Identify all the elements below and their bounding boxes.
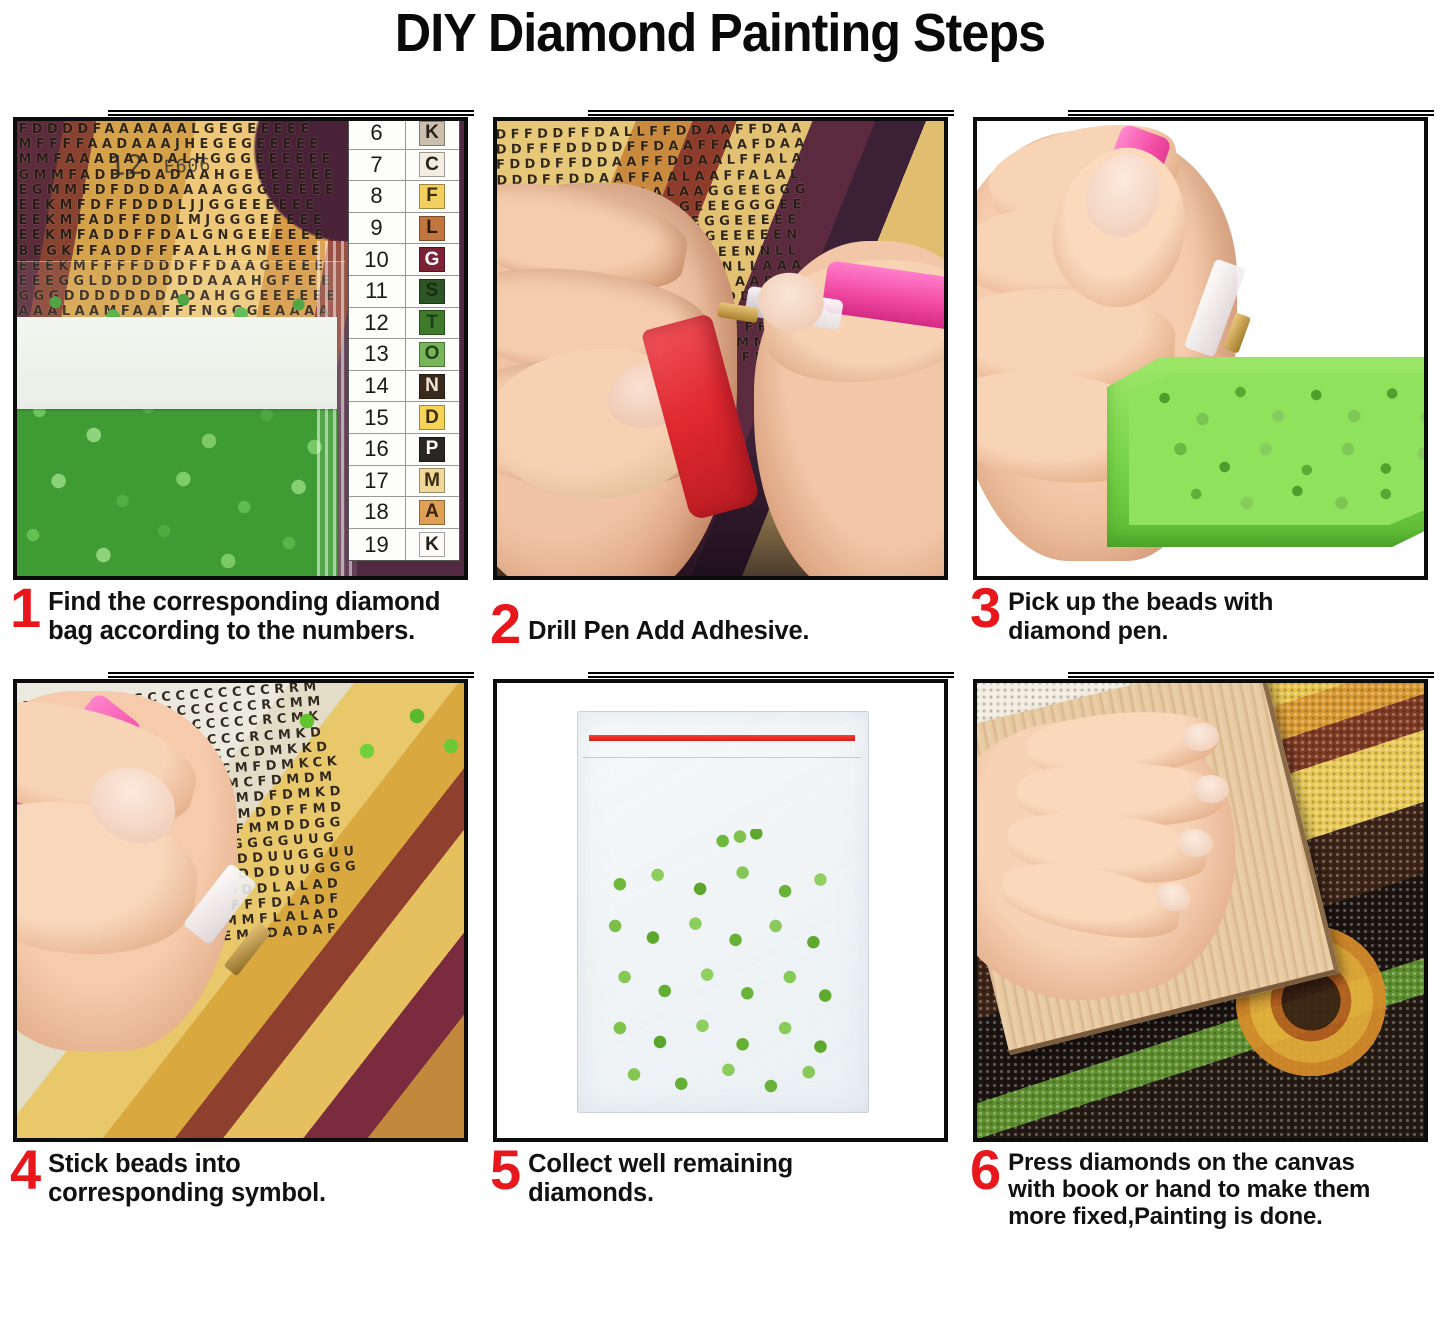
legend-row: 12T: [349, 308, 459, 340]
step-photo-4: CCCCCCCCCCCCCCCCCCCRRM CCCCCCCCCCCCCCCCC…: [13, 679, 468, 1142]
legend-color-swatch: K: [419, 532, 445, 557]
step-photo-2: DFFDDFFDALLFFDDAAFFDAA DDFFFDDDDFFDAAFFA…: [493, 117, 948, 580]
legend-row-number: 7: [349, 152, 405, 178]
legend-color-swatch: M: [419, 468, 445, 493]
legend-row: 13O: [349, 339, 459, 371]
step-number-1: 1: [10, 582, 41, 634]
step-photo-wrap-1: FDDDDFAAAAAALGEGEEEEE MFFFFAADAAAJHEGEGE…: [13, 108, 468, 580]
step-text-4: Stick beads into corresponding symbol.: [48, 1148, 326, 1208]
legend-row: 7C: [349, 150, 459, 182]
legend-row-number: 15: [349, 405, 405, 431]
step-card-2: DFFDDFFDALLFFDDAAFFDAA DDFFFDDDDFFDAAFFA…: [480, 108, 960, 670]
legend-row-symbol-cell: O: [405, 339, 459, 370]
legend-row-number: 8: [349, 183, 405, 209]
legend-row: 8F: [349, 181, 459, 213]
legend-row-symbol-cell: L: [405, 213, 459, 244]
step-photo-1: FDDDDFAAAAAALGEGEEEEE MFFFFAADAAAJHEGEGE…: [13, 117, 468, 580]
legend-row-symbol-cell: C: [405, 150, 459, 181]
legend-color-swatch: O: [419, 342, 445, 367]
step-text-1: Find the corresponding diamond bag accor…: [48, 586, 440, 646]
step-card-5: 5 Collect well remaining diamonds.: [480, 670, 960, 1232]
legend-color-swatch: F: [419, 184, 445, 209]
steps-grid: FDDDDFAAAAAALGEGEEEEE MFFFFAADAAAJHEGEGE…: [0, 108, 1440, 1232]
legend-color-swatch: K: [419, 121, 445, 146]
legend-row-number: 19: [349, 532, 405, 558]
step-photo-wrap-2: DFFDDFFDALLFFDDAAFFDAA DDFFFDDDDFFDAAFFA…: [493, 108, 948, 580]
step-photo-3: [973, 117, 1428, 580]
bag-label-code: E606: [163, 155, 211, 178]
legend-row: 16P: [349, 434, 459, 466]
step-card-3: 3 Pick up the beads with diamond pen.: [960, 108, 1440, 670]
step-photo-wrap-3: [973, 108, 1428, 580]
step-text-3: Pick up the beads with diamond pen.: [1008, 586, 1273, 645]
legend-color-swatch: D: [419, 405, 445, 430]
legend-row: 19K: [349, 529, 459, 561]
steps-row-top: FDDDDFAAAAAALGEGEEEEE MFFFFAADAAAJHEGEGE…: [0, 108, 1440, 670]
photo-pen-and-tray: [977, 121, 1424, 576]
legend-row-symbol-cell: P: [405, 434, 459, 465]
legend-row: 18A: [349, 497, 459, 529]
legend-color-swatch: A: [419, 500, 445, 525]
legend-row-number: 9: [349, 215, 405, 241]
legend-row-symbol-cell: K: [405, 529, 459, 561]
legend-row-symbol-cell: G: [405, 244, 459, 275]
photo-pressing-board: [977, 683, 1424, 1138]
steps-row-bottom: CCCCCCCCCCCCCCCCCCCRRM CCCCCCCCCCCCCCCCC…: [0, 670, 1440, 1232]
legend-row: 6K: [349, 121, 459, 150]
photo-placing-bead: CCCCCCCCCCCCCCCCCCCRRM CCCCCCCCCCCCCCCCC…: [17, 683, 464, 1138]
step-text-2: Drill Pen Add Adhesive.: [528, 617, 809, 646]
legend-row-symbol-cell: M: [405, 466, 459, 497]
photo-zip-bag: [497, 683, 944, 1138]
zip-seal-strip: [589, 735, 855, 741]
legend-row-number: 10: [349, 247, 405, 273]
legend-color-swatch: T: [419, 310, 445, 335]
step-caption-3: 3 Pick up the beads with diamond pen.: [960, 580, 1440, 670]
step-number-2: 2: [490, 598, 521, 650]
zip-seal-line: [583, 757, 861, 758]
step-number-6: 6: [970, 1144, 1001, 1196]
step-caption-6: 6 Press diamonds on the canvas with book…: [960, 1142, 1440, 1232]
legend-row: 9L: [349, 213, 459, 245]
legend-color-swatch: C: [419, 152, 445, 177]
legend-row-number: 17: [349, 468, 405, 494]
legend-color-swatch: L: [419, 216, 445, 241]
legend-row-number: 18: [349, 499, 405, 525]
step-caption-1: 1 Find the corresponding diamond bag acc…: [0, 580, 480, 670]
photo-pen-adhesive: DFFDDFFDALLFFDDAAFFDAA DDFFFDDDDFFDAAFFA…: [497, 121, 944, 576]
placed-green-beads: [267, 691, 464, 791]
step-number-5: 5: [490, 1144, 521, 1196]
step-caption-4: 4 Stick beads into corresponding symbol.: [0, 1142, 480, 1232]
step-text-5: Collect well remaining diamonds.: [528, 1148, 793, 1208]
legend-row: 14N: [349, 371, 459, 403]
step-photo-wrap-4: CCCCCCCCCCCCCCCCCCCRRM CCCCCCCCCCCCCCCCC…: [13, 670, 468, 1142]
legend-row-number: 16: [349, 436, 405, 462]
legend-row-number: 11: [349, 278, 405, 304]
step-caption-5: 5 Collect well remaining diamonds.: [480, 1142, 960, 1232]
bag-bead-pile: [601, 861, 837, 1093]
step-photo-5: [493, 679, 948, 1142]
step-card-6: 6 Press diamonds on the canvas with book…: [960, 670, 1440, 1232]
legend-color-swatch: P: [419, 437, 445, 462]
bag-label: [17, 317, 337, 409]
legend-row: 10G: [349, 244, 459, 276]
legend-row-symbol-cell: N: [405, 371, 459, 402]
legend-row-symbol-cell: T: [405, 308, 459, 339]
step-photo-6: [973, 679, 1428, 1142]
step-photo-wrap-6: [973, 670, 1428, 1142]
legend-color-swatch: G: [419, 247, 445, 272]
legend-row-symbol-cell: F: [405, 181, 459, 212]
page-title: DIY Diamond Painting Steps: [50, 0, 1389, 60]
bag-label-text: 12 E606: [108, 147, 211, 182]
step-card-4: CCCCCCCCCCCCCCCCCCCRRM CCCCCCCCCCCCCCCCC…: [0, 670, 480, 1232]
legend-row: 17M: [349, 466, 459, 498]
step-caption-2: 2 Drill Pen Add Adhesive.: [480, 580, 960, 670]
step-number-4: 4: [10, 1144, 41, 1196]
legend-row-number: 12: [349, 310, 405, 336]
legend-row-symbol-cell: D: [405, 402, 459, 433]
legend-row-symbol-cell: A: [405, 497, 459, 528]
step-number-3: 3: [970, 582, 1001, 634]
bead-field: [17, 391, 337, 576]
step-photo-wrap-5: [493, 670, 948, 1142]
legend-row-number: 14: [349, 373, 405, 399]
tray-beads: [1133, 371, 1424, 521]
legend-row-symbol-cell: K: [405, 121, 459, 149]
symbol-legend-table: 6K7C8F9L10G11S12T13O14N15D16P17M18A19K: [348, 121, 460, 561]
step-card-1: FDDDDFAAAAAALGEGEEEEE MFFFFAADAAAJHEGEGE…: [0, 108, 480, 670]
legend-color-swatch: S: [419, 279, 445, 304]
bag-label-number: 12: [108, 150, 146, 183]
legend-row: 15D: [349, 402, 459, 434]
step-text-6: Press diamonds on the canvas with book o…: [1008, 1148, 1370, 1231]
legend-row-symbol-cell: S: [405, 276, 459, 307]
legend-color-swatch: N: [419, 374, 445, 399]
photo-canvas-with-bag: FDDDDFAAAAAALGEGEEEEE MFFFFAADAAAJHEGEGE…: [17, 121, 464, 576]
legend-row-number: 13: [349, 341, 405, 367]
legend-row: 11S: [349, 276, 459, 308]
stray-beads: [715, 829, 763, 849]
legend-row-number: 6: [349, 121, 405, 146]
